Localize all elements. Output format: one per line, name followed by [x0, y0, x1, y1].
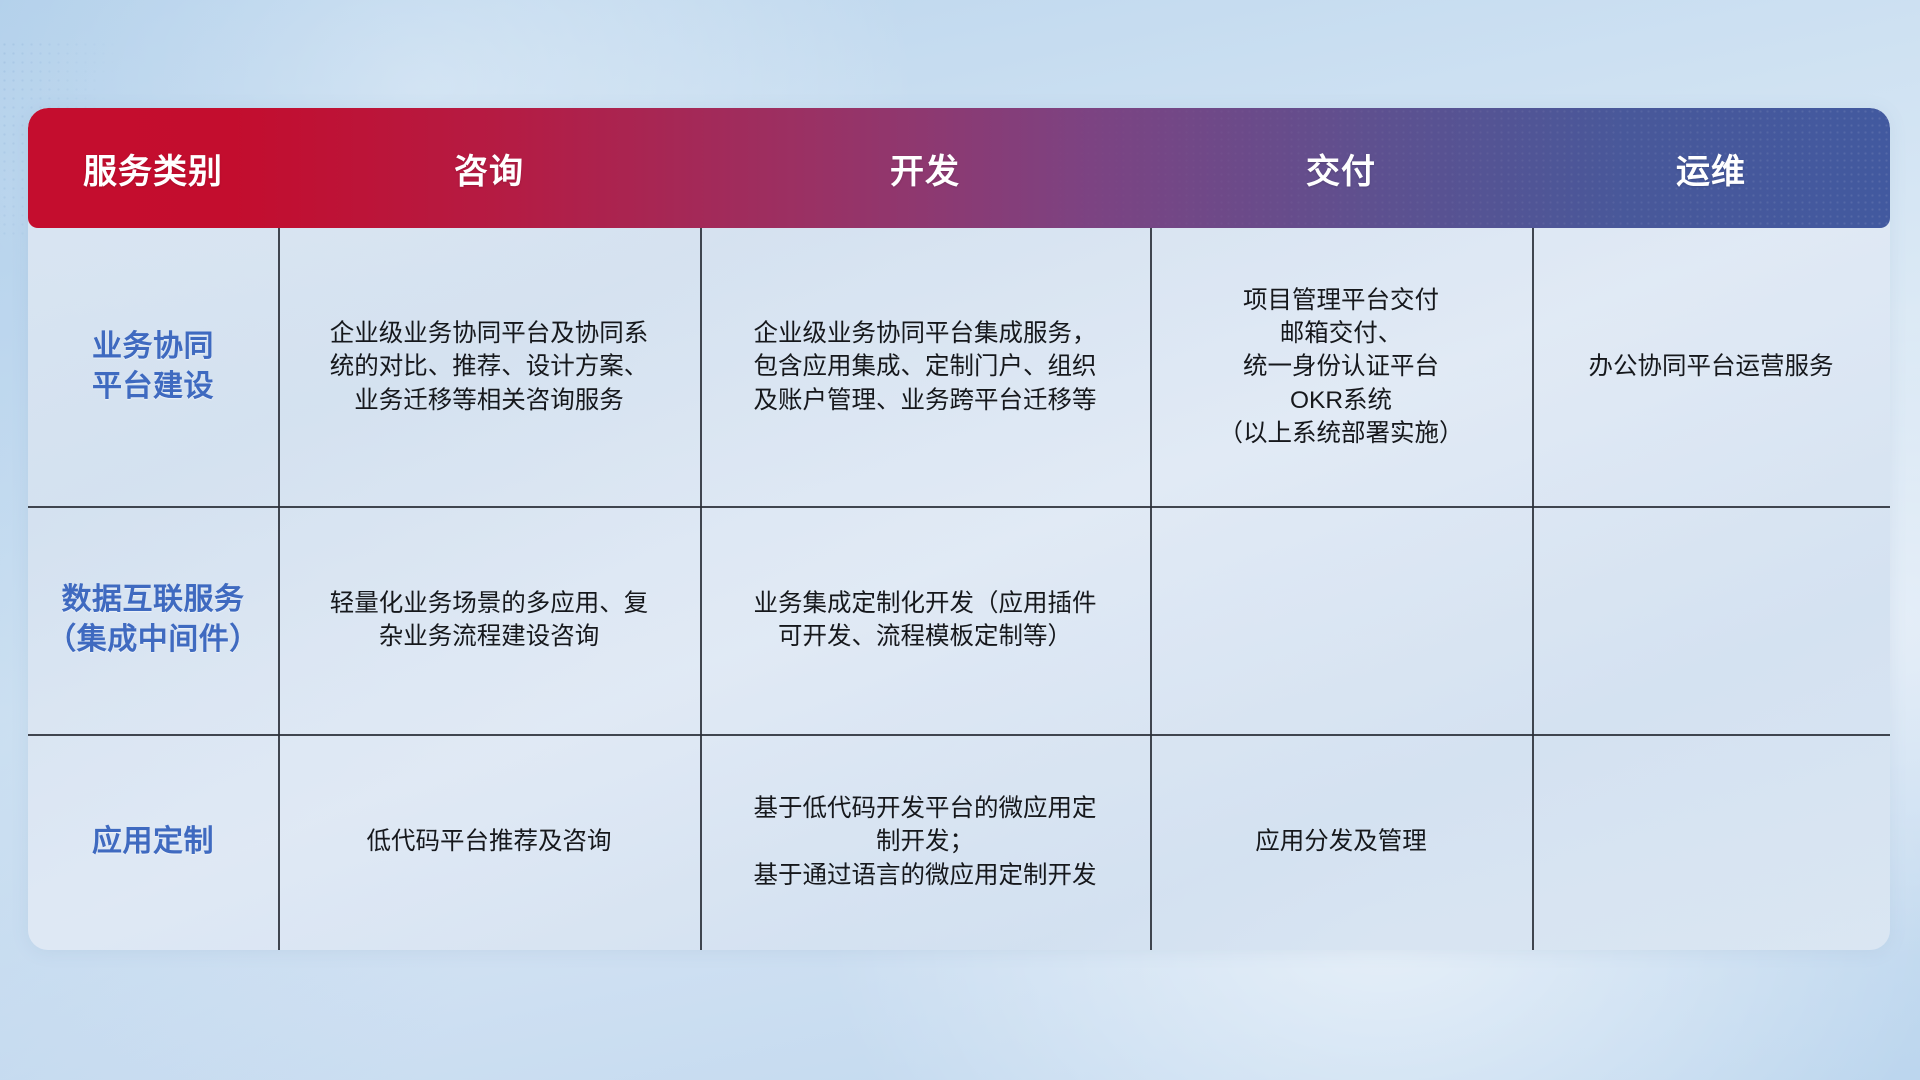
- column-header-delivery: 交付: [1150, 108, 1532, 228]
- row-category-cell: 数据互联服务 （集成中间件）: [28, 506, 278, 734]
- cell-development: 企业级业务协同平台集成服务， 包含应用集成、定制门户、组织 及账户管理、业务跨平…: [700, 228, 1150, 506]
- table-body: 业务协同 平台建设 企业级业务协同平台及协同系 统的对比、推荐、设计方案、 业务…: [28, 228, 1890, 950]
- cell-text: 基于低代码开发平台的微应用定 制开发； 基于通过语言的微应用定制开发: [754, 792, 1097, 892]
- cell-text: 项目管理平台交付 邮箱交付、 统一身份认证平台 OKR系统 （以上系统部署实施）: [1219, 284, 1464, 451]
- column-header-label: 开发: [890, 144, 960, 193]
- row-category-cell: 业务协同 平台建设: [28, 228, 278, 506]
- cell-text: 办公协同平台运营服务: [1589, 350, 1834, 383]
- cell-development: 业务集成定制化开发（应用插件 可开发、流程模板定制等）: [700, 506, 1150, 734]
- cell-text: 应用分发及管理: [1255, 825, 1427, 858]
- column-header-label: 交付: [1306, 144, 1376, 193]
- cell-delivery: 应用分发及管理: [1150, 734, 1532, 950]
- cell-text: 企业级业务协同平台集成服务， 包含应用集成、定制门户、组织 及账户管理、业务跨平…: [754, 317, 1097, 417]
- cell-consulting: 企业级业务协同平台及协同系 统的对比、推荐、设计方案、 业务迁移等相关咨询服务: [278, 228, 700, 506]
- cell-delivery: 项目管理平台交付 邮箱交付、 统一身份认证平台 OKR系统 （以上系统部署实施）: [1150, 228, 1532, 506]
- column-header-label: 咨询: [454, 144, 524, 193]
- column-header-label: 运维: [1676, 144, 1746, 193]
- category-label: 应用定制: [92, 822, 214, 862]
- table-row: 数据互联服务 （集成中间件） 轻量化业务场景的多应用、复 杂业务流程建设咨询 业…: [28, 506, 1890, 734]
- column-header-label: 服务类别: [83, 144, 223, 193]
- column-header-development: 开发: [700, 108, 1150, 228]
- cell-operations: [1532, 506, 1890, 734]
- table-row: 业务协同 平台建设 企业级业务协同平台及协同系 统的对比、推荐、设计方案、 业务…: [28, 228, 1890, 506]
- cell-consulting: 轻量化业务场景的多应用、复 杂业务流程建设咨询: [278, 506, 700, 734]
- cell-operations: [1532, 734, 1890, 950]
- cell-delivery: [1150, 506, 1532, 734]
- column-header-consulting: 咨询: [278, 108, 700, 228]
- cell-text: 企业级业务协同平台及协同系 统的对比、推荐、设计方案、 业务迁移等相关咨询服务: [330, 317, 649, 417]
- cell-consulting: 低代码平台推荐及咨询: [278, 734, 700, 950]
- cell-operations: 办公协同平台运营服务: [1532, 228, 1890, 506]
- service-category-table: 服务类别 咨询 开发 交付 运维 业务协同 平台建设 企业级业务协同平台及协同系…: [28, 108, 1890, 950]
- table-row: 应用定制 低代码平台推荐及咨询 基于低代码开发平台的微应用定 制开发； 基于通过…: [28, 734, 1890, 950]
- category-label: 业务协同 平台建设: [92, 327, 214, 406]
- column-header-operations: 运维: [1532, 108, 1890, 228]
- cell-text: 低代码平台推荐及咨询: [367, 825, 612, 858]
- column-header-service-category: 服务类别: [28, 108, 278, 228]
- row-category-cell: 应用定制: [28, 734, 278, 950]
- cell-development: 基于低代码开发平台的微应用定 制开发； 基于通过语言的微应用定制开发: [700, 734, 1150, 950]
- cell-text: 轻量化业务场景的多应用、复 杂业务流程建设咨询: [330, 587, 649, 654]
- category-label: 数据互联服务 （集成中间件）: [46, 580, 260, 659]
- table-header-row: 服务类别 咨询 开发 交付 运维: [28, 108, 1890, 228]
- cell-text: 业务集成定制化开发（应用插件 可开发、流程模板定制等）: [754, 587, 1097, 654]
